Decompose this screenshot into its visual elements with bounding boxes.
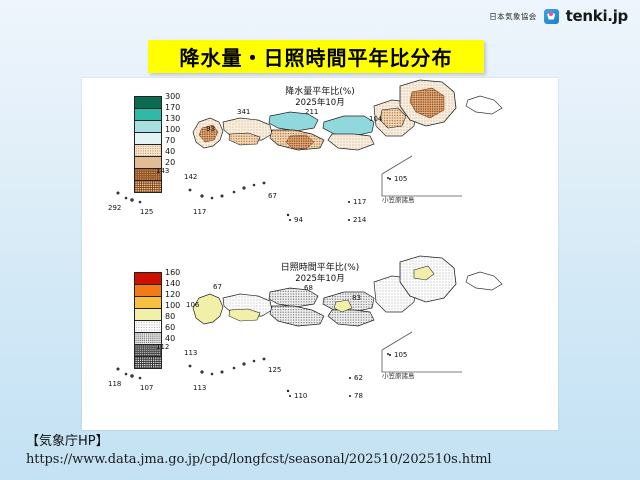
station-value-110: 110	[294, 392, 307, 400]
station-value-117: 117	[353, 198, 366, 206]
brand-name: tenki.jp	[566, 7, 628, 25]
station-value-143: 143	[156, 167, 169, 175]
inset-label-ogasawara: 小笠原諸島	[382, 370, 415, 380]
station-value-125: 125	[140, 208, 153, 216]
station-value-67: 67	[213, 283, 222, 291]
station-value-78: 78	[354, 392, 363, 400]
station-value-292: 292	[108, 204, 121, 212]
source-url[interactable]: https://www.data.jma.go.jp/cpd/longfcst/…	[26, 452, 491, 467]
region-kanto-south	[328, 310, 374, 326]
station-value-341: 341	[237, 108, 250, 116]
station-value-211: 211	[305, 108, 318, 116]
region-kyushu	[193, 294, 223, 324]
station-value-105: 105	[394, 175, 407, 183]
precipitation-map: 降水量平年比(%) 2025年10月 300 170 130 100 70	[82, 78, 558, 254]
page-title: 降水量・日照時間平年比分布	[180, 42, 453, 71]
region-kanto-wet	[323, 116, 374, 136]
region-nansei-islands	[117, 182, 265, 203]
station-value-106: 106	[186, 301, 199, 309]
station-value-104: 104	[369, 115, 382, 123]
station-value-68: 68	[304, 284, 313, 292]
source-credit: 【気象庁HP】	[26, 430, 109, 449]
tenki-diamond-icon	[544, 9, 559, 24]
figure-panel: 降水量平年比(%) 2025年10月 300 170 130 100 70	[82, 78, 558, 430]
station-value-142: 142	[184, 173, 197, 181]
island-minamidaito	[287, 214, 289, 216]
page-title-banner: 降水量・日照時間平年比分布	[148, 40, 484, 73]
station-value-112: 112	[156, 343, 169, 351]
station-value-118: 118	[108, 380, 121, 388]
region-nansei-islands	[117, 358, 265, 379]
station-value-83: 83	[352, 294, 361, 302]
station-value-107: 107	[140, 384, 153, 392]
association-name: 日本気象協会	[489, 11, 536, 22]
station-value-105b: 105	[394, 351, 407, 359]
region-kuril-islands	[466, 272, 502, 290]
station-value-117b: 117	[193, 208, 206, 216]
precipitation-map-graphic	[82, 78, 558, 254]
station-value-113b: 113	[193, 384, 206, 392]
sunshine-map: 日照時間平年比(%) 2025年10月 160 140 120 100 80 6…	[82, 254, 558, 430]
sunshine-map-graphic	[82, 254, 558, 430]
station-value-62: 62	[354, 374, 363, 382]
station-value-113: 113	[184, 349, 197, 357]
region-chubu	[270, 306, 324, 326]
brand-header: 日本気象協会 tenki.jp	[489, 7, 628, 25]
station-value-93: 93	[206, 125, 215, 133]
inset-leader-line	[382, 156, 412, 174]
island-minamidaito	[287, 390, 289, 392]
region-kuril-islands	[466, 96, 502, 114]
station-value-67: 67	[268, 192, 277, 200]
region-kanto	[328, 134, 374, 150]
station-value-94: 94	[294, 216, 303, 224]
inset-leader-line	[382, 332, 412, 350]
station-value-214: 214	[353, 216, 366, 224]
station-value-125: 125	[268, 366, 281, 374]
inset-label-ogasawara: 小笠原諸島	[382, 194, 415, 204]
